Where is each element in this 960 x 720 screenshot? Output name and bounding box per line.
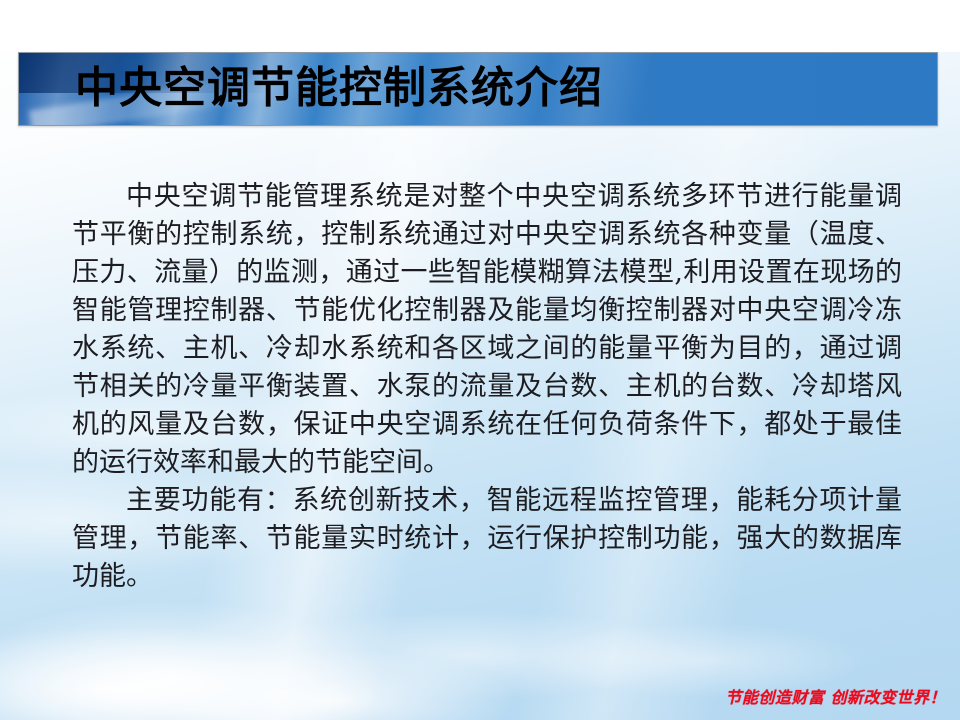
presentation-slide: 中央空调节能控制系统介绍 中央空调节能管理系统是对整个中央空调系统多环节进行能量… [0, 0, 960, 720]
body-paragraph-2: 主要功能有：系统创新技术，智能远程监控管理，能耗分项计量管理，节能率、节能量实时… [72, 482, 902, 596]
slide-title-banner: 中央空调节能控制系统介绍 [18, 52, 938, 126]
page-title: 中央空调节能控制系统介绍 [75, 68, 603, 111]
body-paragraph-1: 中央空调节能管理系统是对整个中央空调系统多环节进行能量调节平衡的控制系统，控制系… [72, 178, 902, 482]
slide-top-white-band [0, 0, 960, 52]
footer-slogan: 节能创造财富 创新改变世界！ [725, 684, 946, 708]
slide-body-text: 中央空调节能管理系统是对整个中央空调系统多环节进行能量调节平衡的控制系统，控制系… [72, 178, 902, 596]
